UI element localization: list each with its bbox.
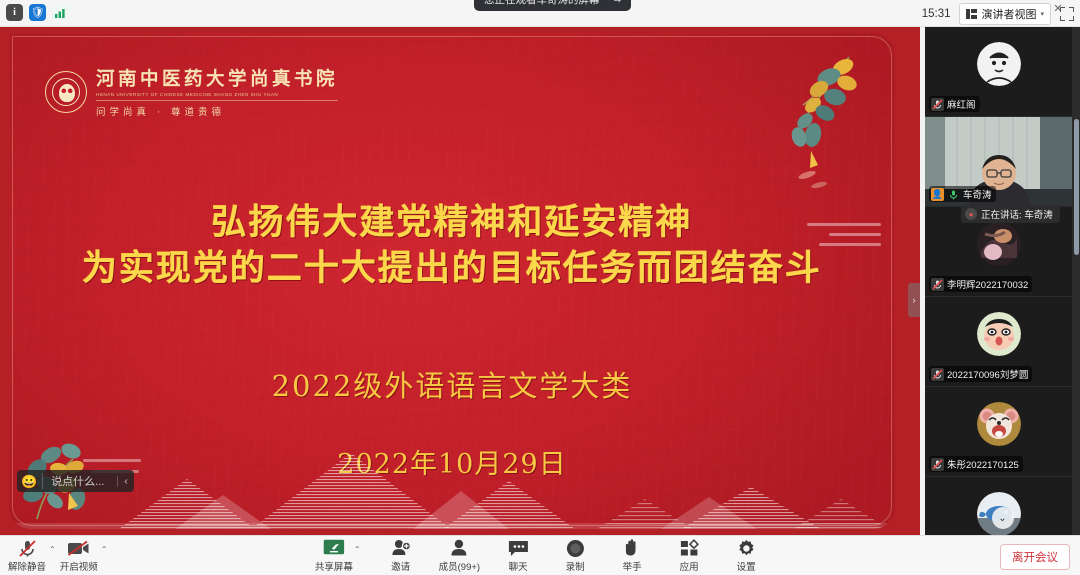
school-logo-text: 河南中医药大学尚真书院 HENAN UNIVERSITY OF CHINESE … [96,65,338,118]
top-bar-right-controls: 15:31 演讲者视图 ▾ [922,3,1074,25]
school-name-en: HENAN UNIVERSITY OF CHINESE MEDICINE SHA… [96,92,338,97]
audio-options-chevron-icon[interactable]: ⌃ [49,545,56,554]
participants-button[interactable]: 成员(99+) [439,538,480,573]
raise-hand-label: 举手 [623,559,642,573]
participant-name: 李明辉2022170032 [947,277,1028,291]
share-screen-button[interactable]: 共享屏幕 [315,538,353,573]
top-bar-status-icons: i 🛡 [6,4,69,21]
invite-button[interactable]: 邀请 [382,538,420,573]
speaking-label: 正在讲话: 车奇涛 [981,207,1053,221]
microphone-muted-icon [931,458,944,471]
participant-namebar: 麻红阁 [929,96,980,112]
chat-input-overlay[interactable]: 😀 说点什么... ‹ [17,470,134,492]
slide-title-line1: 弘扬伟大建党精神和延安精神 [9,201,895,245]
crayon-shinchan-avatar [977,312,1021,356]
microphone-on-icon [947,188,960,201]
chevron-down-icon: ▾ [1040,10,1044,18]
toolbar-left-group: 解除静音 ⌃ 开启视频 ⌃ [8,538,109,573]
dark-photo-avatar [977,222,1021,266]
chat-collapse-icon[interactable]: ‹ [117,476,129,487]
leave-meeting-button[interactable]: 离开会议 [1000,544,1070,570]
chat-icon [508,538,529,558]
start-video-button[interactable]: 开启视频 [60,538,98,573]
participant-namebar: 👤 车奇涛 [929,186,996,202]
settings-gear-icon [737,538,756,558]
video-options-chevron-icon[interactable]: ⌃ [101,545,108,554]
slide-title-line2: 为实现党的二十大提出的目标任务而团结奋斗 [9,245,895,293]
slide-title-block: 弘扬伟大建党精神和延安精神 为实现党的二十大提出的目标任务而团结奋斗 [9,201,895,293]
participant-tile[interactable]: 👤 车奇涛 [925,117,1072,207]
chat-label: 聊天 [509,559,528,573]
participant-avatar-icon: 👤 [931,188,944,201]
participant-name: 朱彤2022170125 [947,457,1019,471]
participant-tile[interactable]: 朱彤2022170125 [925,387,1072,477]
unmute-button[interactable]: 解除静音 [8,538,46,573]
logo-divider [96,100,338,101]
participant-video-panel[interactable]: 麻红阁 👤 车奇涛 [925,27,1080,535]
participant-tile[interactable]: 麻红阁 [925,27,1072,117]
apps-label: 应用 [680,559,699,573]
presentation-slide: 河南中医药大学尚真书院 HENAN UNIVERSITY OF CHINESE … [9,33,895,529]
apps-button[interactable]: 应用 [670,538,708,573]
record-label: 录制 [566,559,585,573]
raise-hand-icon [623,538,641,558]
settings-button[interactable]: 设置 [727,538,765,573]
school-seal-icon [45,71,87,113]
toolbar-center-group: 共享屏幕 ⌃ 邀请 成员(99+) 聊天 录制 [315,538,765,573]
camera-off-icon [67,538,90,558]
school-name-cn: 河南中医药大学尚真书院 [96,65,338,91]
scroll-down-button[interactable]: ⌄ [992,507,1014,529]
invite-label: 邀请 [391,559,410,573]
slide-course: 2022级外语语言文学大类 [9,363,895,405]
school-motto: 问学尚真 · 尊道贵德 [96,104,338,118]
start-video-label: 开启视频 [60,559,98,573]
share-options-chevron-icon[interactable]: ⌃ [354,545,361,554]
decorative-branch [763,51,873,201]
shared-screen-area[interactable]: 河南中医药大学尚真书院 HENAN UNIVERSITY OF CHINESE … [0,27,920,535]
shield-icon[interactable]: 🛡 [29,4,46,21]
top-bar: i 🛡 您正在观看车奇涛的屏幕 ⇉ — ❐ ✕ 15:31 演讲者视图 ▾ [0,0,1080,27]
participant-namebar: 李明辉2022170032 [929,276,1032,292]
speaker-view-dropdown[interactable]: 演讲者视图 ▾ [959,3,1051,25]
participants-label: 成员(99+) [439,559,480,573]
tooltip-more-icon[interactable]: ⇉ [614,0,622,5]
share-screen-label: 共享屏幕 [315,559,353,573]
jerry-mouse-avatar [977,402,1021,446]
info-icon[interactable]: i [6,4,23,21]
layout-icon [966,9,977,19]
apps-icon [680,538,699,558]
speaker-view-label: 演讲者视图 [981,6,1036,22]
viewing-screen-text: 您正在观看车奇涛的屏幕 [484,0,600,7]
panel-collapse-handle[interactable]: › [908,283,920,317]
meeting-toolbar: 解除静音 ⌃ 开启视频 ⌃ 共享屏幕 ⌃ 邀请 [0,535,1080,575]
participant-tile[interactable]: 2022170096刘梦圆 [925,297,1072,387]
record-icon [566,538,585,558]
microphone-muted-icon [931,98,944,111]
school-logo: 河南中医药大学尚真书院 HENAN UNIVERSITY OF CHINESE … [45,65,338,118]
speaking-mic-icon: ● [965,208,977,220]
record-button[interactable]: 录制 [556,538,594,573]
clock: 15:31 [922,8,951,20]
microphone-muted-icon [931,368,944,381]
participant-name: 麻红阁 [947,97,976,111]
invite-icon [391,538,411,558]
viewing-screen-tooltip: 您正在观看车奇涛的屏幕 ⇉ [474,0,631,11]
participant-name: 车奇涛 [963,187,992,201]
participant-name: 2022170096刘梦圆 [947,367,1028,381]
microphone-muted-icon [931,278,944,291]
unmute-label: 解除静音 [8,559,46,573]
fullscreen-icon[interactable] [1060,7,1074,21]
chat-input-placeholder[interactable]: 说点什么... [42,473,112,489]
participants-icon [449,538,469,558]
participant-namebar: 2022170096刘梦圆 [929,366,1032,382]
cartoon-boy-avatar [977,42,1021,86]
microphone-muted-icon [18,538,37,558]
signal-bars-icon[interactable] [52,4,69,21]
participant-namebar: 朱彤2022170125 [929,456,1023,472]
panel-scrollbar[interactable] [1074,119,1079,255]
raise-hand-button[interactable]: 举手 [613,538,651,573]
speaking-indicator: ● 正在讲话: 车奇涛 [961,205,1060,223]
emoji-icon[interactable]: 😀 [21,475,37,488]
chat-button[interactable]: 聊天 [499,538,537,573]
share-screen-icon [323,538,345,558]
settings-label: 设置 [737,559,756,573]
